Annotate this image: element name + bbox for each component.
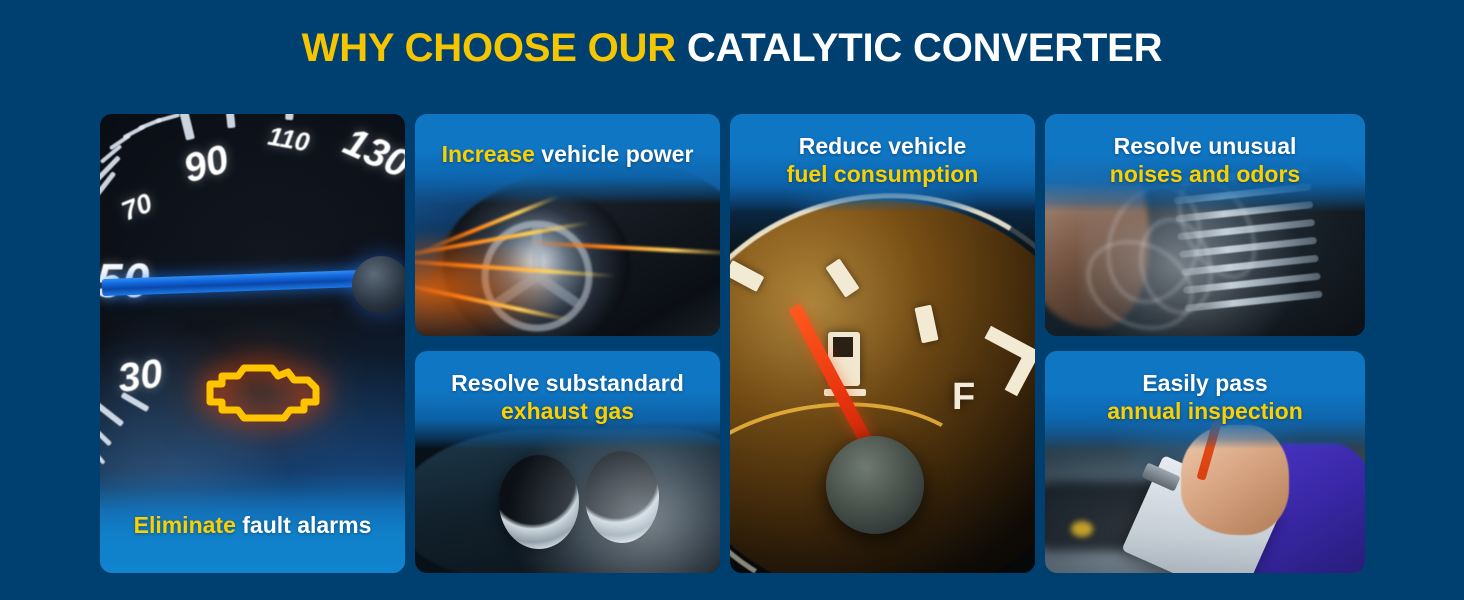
caption-rest: fault alarms xyxy=(236,512,372,538)
background-light xyxy=(1071,521,1093,537)
gauge-label-f: F xyxy=(952,376,975,419)
page-title: WHY CHOOSE OUR CATALYTIC CONVERTER xyxy=(0,24,1464,72)
caption-line-1: Resolve substandard xyxy=(429,369,706,397)
feature-card-eliminate-fault-alarms[interactable]: 130 110 90 70 50 30 xyxy=(100,114,405,573)
caption-highlight: annual inspection xyxy=(1107,398,1303,424)
feature-card-easily-pass-inspection[interactable]: Easily pass annual inspection xyxy=(1045,351,1365,573)
caption-highlight: noises and odors xyxy=(1110,161,1300,187)
caption-rest: Resolve unusual xyxy=(1114,133,1297,159)
caption-line-1: Eliminate fault alarms xyxy=(114,511,391,539)
speedometer-hub xyxy=(352,256,405,314)
caption-rest: Reduce vehicle xyxy=(799,133,966,159)
caption-line-1: Increase vehicle power xyxy=(429,140,706,168)
feature-card-resolve-noises-odors[interactable]: Resolve unusual noises and odors xyxy=(1045,114,1365,336)
caption-line-1: Resolve unusual xyxy=(1059,132,1351,160)
caption-line-2: noises and odors xyxy=(1059,160,1351,188)
feature-card-resolve-exhaust-gas[interactable]: Resolve substandard exhaust gas xyxy=(415,351,720,573)
caption-rest: vehicle power xyxy=(535,141,694,167)
card-caption: Eliminate fault alarms xyxy=(100,471,405,573)
card-caption: Increase vehicle power xyxy=(415,114,720,204)
feature-card-grid: 130 110 90 70 50 30 xyxy=(100,114,1365,573)
caption-highlight: Increase xyxy=(442,141,535,167)
caption-rest: Resolve substandard xyxy=(451,370,684,396)
feature-card-increase-vehicle-power[interactable]: Increase vehicle power xyxy=(415,114,720,336)
caption-rest: Easily pass xyxy=(1142,370,1267,396)
gauge-hub xyxy=(826,436,924,534)
title-rest: CATALYTIC CONVERTER xyxy=(687,26,1162,70)
card-caption: Easily pass annual inspection xyxy=(1045,351,1365,449)
title-highlight: WHY CHOOSE OUR xyxy=(302,26,676,70)
caption-line-1: Reduce vehicle xyxy=(744,132,1021,160)
caption-highlight: exhaust gas xyxy=(501,398,634,424)
card-caption: Reduce vehicle fuel consumption xyxy=(730,114,1035,212)
caption-highlight: Eliminate xyxy=(134,512,236,538)
caption-line-1: Easily pass xyxy=(1059,369,1351,397)
caption-line-2: fuel consumption xyxy=(744,160,1021,188)
caption-line-2: annual inspection xyxy=(1059,397,1351,425)
check-engine-light-icon xyxy=(204,354,332,430)
caption-highlight: fuel consumption xyxy=(787,161,979,187)
caption-line-2: exhaust gas xyxy=(429,397,706,425)
card-caption: Resolve unusual noises and odors xyxy=(1045,114,1365,212)
promo-banner: WHY CHOOSE OUR CATALYTIC CONVERTER xyxy=(0,0,1464,600)
feature-card-reduce-fuel-consumption[interactable]: F Reduce vehicle fuel consumption xyxy=(730,114,1035,573)
card-caption: Resolve substandard exhaust gas xyxy=(415,351,720,449)
